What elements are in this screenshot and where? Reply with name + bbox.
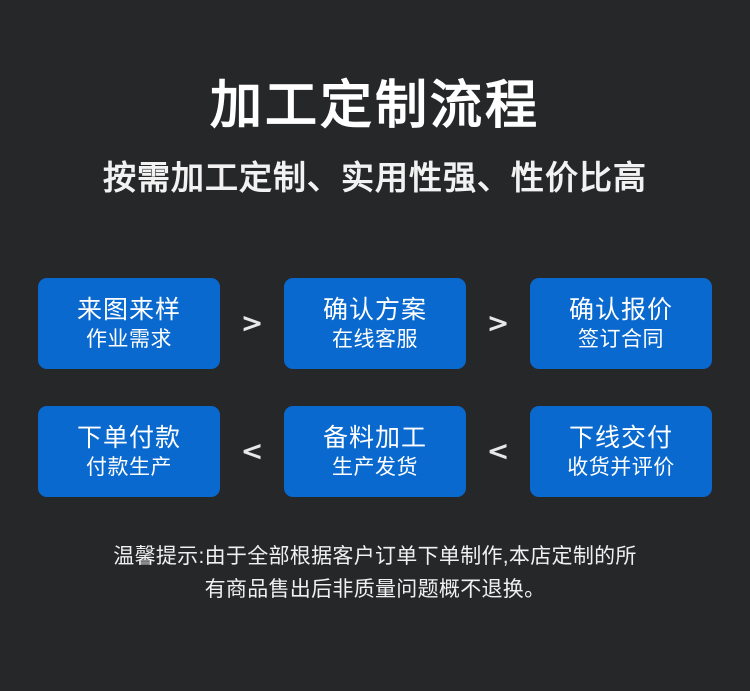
header-block: 加工定制流程 按需加工定制、实用性强、性价比高 bbox=[0, 0, 750, 196]
step-title: 下线交付 bbox=[569, 424, 673, 454]
step-box-4[interactable]: 下单付款 付款生产 bbox=[38, 406, 220, 497]
note-line-1: 温馨提示:由于全部根据客户订单下单制作,本店定制的所 bbox=[75, 541, 675, 574]
chevron-left-icon: < bbox=[482, 438, 514, 465]
page-subtitle: 按需加工定制、实用性强、性价比高 bbox=[0, 160, 750, 196]
chevron-left-icon: < bbox=[236, 438, 268, 465]
step-box-6[interactable]: 下线交付 收货并评价 bbox=[530, 406, 712, 497]
step-box-5[interactable]: 备料加工 生产发货 bbox=[284, 406, 466, 497]
step-title: 下单付款 bbox=[77, 424, 181, 454]
step-subtitle: 收货并评价 bbox=[567, 455, 675, 480]
disclaimer-note: 温馨提示:由于全部根据客户订单下单制作,本店定制的所 有商品售出后非质量问题概不… bbox=[75, 541, 675, 606]
flow-diagram: 来图来样 作业需求 > 确认方案 在线客服 > 确认报价 签订合同 下单付款 付… bbox=[0, 278, 750, 497]
step-box-3[interactable]: 确认报价 签订合同 bbox=[530, 278, 712, 369]
step-subtitle: 在线客服 bbox=[332, 327, 418, 352]
page-title: 加工定制流程 bbox=[0, 78, 750, 134]
step-title: 备料加工 bbox=[323, 424, 427, 454]
process-flow-banner: 加工定制流程 按需加工定制、实用性强、性价比高 来图来样 作业需求 > 确认方案… bbox=[0, 0, 750, 691]
step-subtitle: 签订合同 bbox=[578, 327, 664, 352]
step-box-2[interactable]: 确认方案 在线客服 bbox=[284, 278, 466, 369]
step-subtitle: 作业需求 bbox=[86, 327, 172, 352]
chevron-right-icon: > bbox=[236, 310, 268, 337]
note-line-2: 有商品售出后非质量问题概不退换。 bbox=[75, 574, 675, 607]
step-subtitle: 付款生产 bbox=[86, 455, 172, 480]
step-subtitle: 生产发货 bbox=[332, 455, 418, 480]
chevron-right-icon: > bbox=[482, 310, 514, 337]
flow-row-1: 来图来样 作业需求 > 确认方案 在线客服 > 确认报价 签订合同 bbox=[38, 278, 712, 369]
step-title: 确认报价 bbox=[569, 296, 673, 326]
step-box-1[interactable]: 来图来样 作业需求 bbox=[38, 278, 220, 369]
step-title: 确认方案 bbox=[323, 296, 427, 326]
flow-row-2: 下单付款 付款生产 < 备料加工 生产发货 < 下线交付 收货并评价 bbox=[38, 406, 712, 497]
step-title: 来图来样 bbox=[77, 296, 181, 326]
